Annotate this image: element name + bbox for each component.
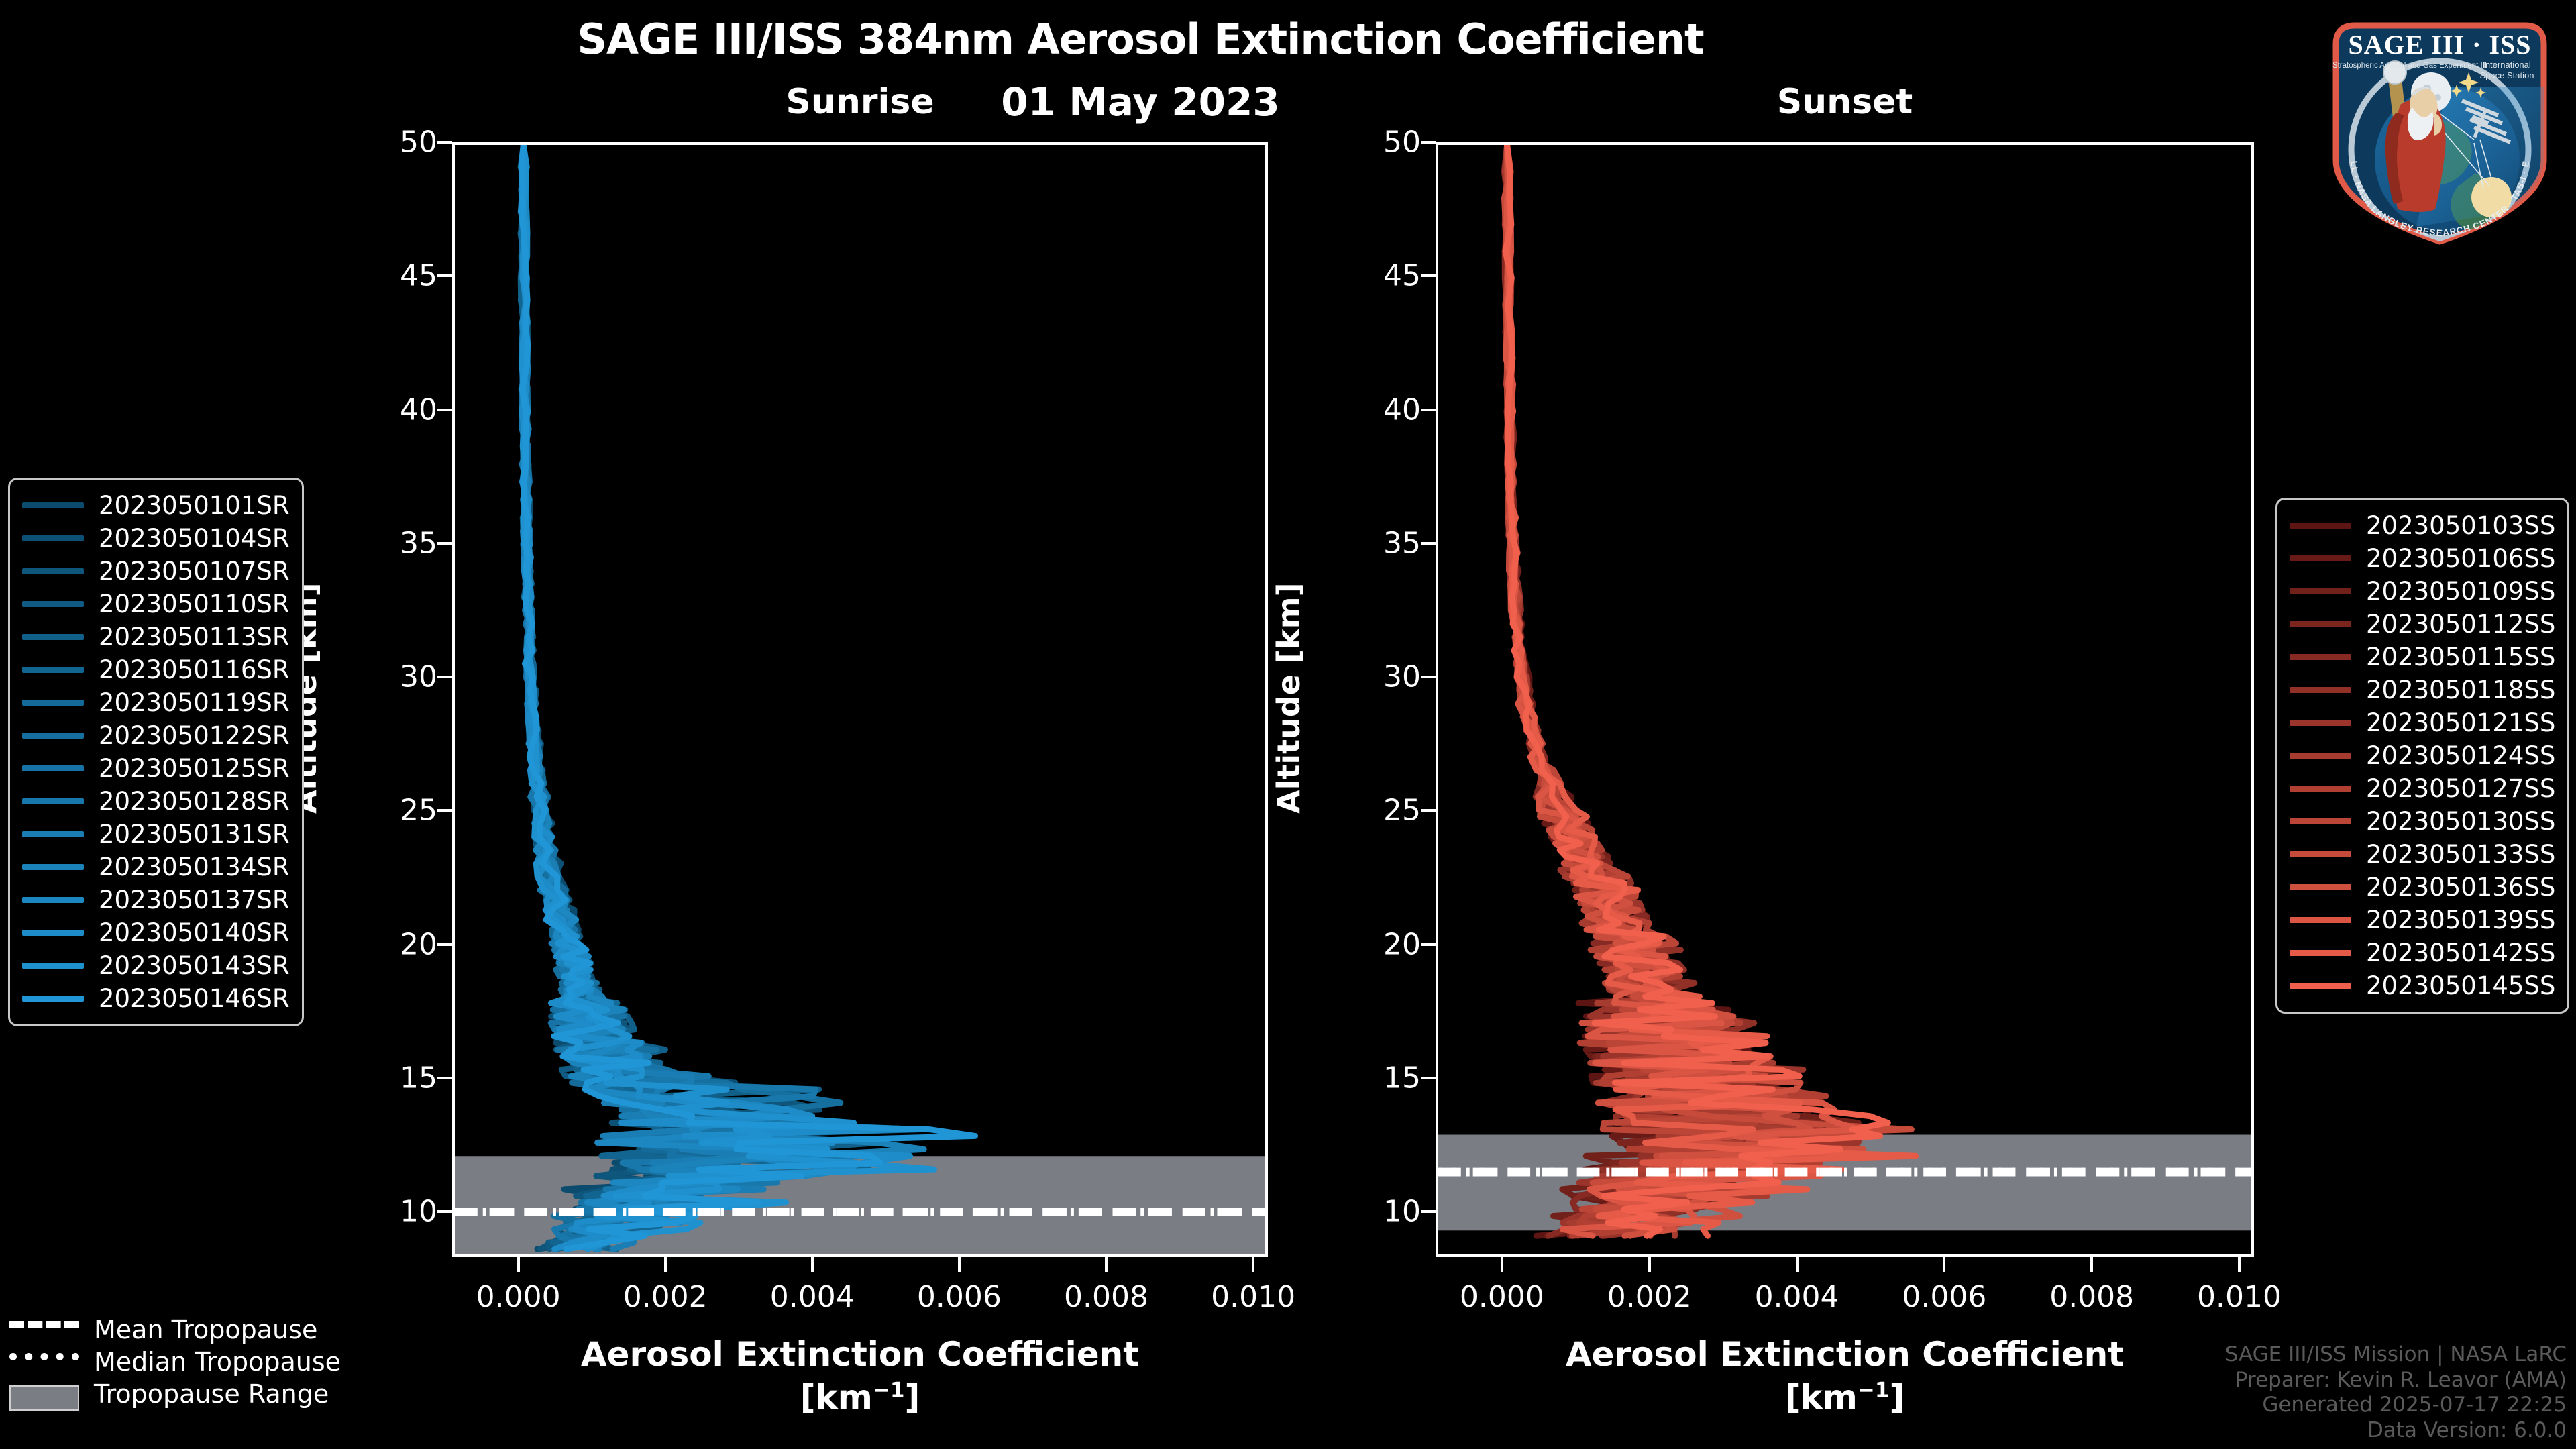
y-tick-mark (1421, 676, 1436, 678)
legend-item: 2023050107SR (22, 555, 290, 588)
legend-label: 2023050107SR (99, 557, 290, 586)
legend-item-median-tropopause: Median Tropopause (9, 1346, 341, 1378)
legend-color-swatch (22, 568, 84, 574)
legend-item: 2023050125SR (22, 752, 290, 785)
y-tick-label: 20 (1320, 927, 1421, 961)
legend-color-swatch (2290, 950, 2351, 956)
legend-label: 2023050109SS (2366, 577, 2555, 606)
x-tick-label: 0.002 (592, 1280, 739, 1314)
patch-title: SAGE III · ISS (2348, 30, 2531, 60)
legend-color-swatch (22, 667, 84, 673)
y-tick-mark (437, 676, 452, 678)
legend-item-tropopause-range: Tropopause Range (9, 1378, 341, 1410)
y-tick-label: 30 (337, 660, 437, 694)
legend-item: 2023050136SS (2290, 871, 2555, 904)
legend-color-swatch (2290, 917, 2351, 923)
legend-item: 2023050103SS (2290, 509, 2555, 542)
x-tick-label: 0.004 (739, 1280, 886, 1314)
legend-label: 2023050125SR (99, 754, 290, 783)
plot-panel-sunrise (452, 142, 1268, 1257)
y-tick-label: 15 (1320, 1061, 1421, 1095)
legend-color-swatch (2290, 555, 2351, 561)
x-tick-label: 0.002 (1576, 1280, 1723, 1314)
legend-label: 2023050134SR (99, 853, 290, 881)
credits-line-mission: SAGE III/ISS Mission | NASA LaRC (2225, 1342, 2567, 1368)
page-title: SAGE III/ISS 384nm Aerosol Extinction Co… (0, 15, 2281, 64)
legend-color-swatch (2290, 621, 2351, 627)
legend-label: 2023050127SS (2366, 774, 2555, 803)
legend-label: 2023050119SR (99, 688, 290, 717)
y-tick-label: 35 (1320, 526, 1421, 560)
legend-item: 2023050134SR (22, 851, 290, 883)
legend-color-swatch (2290, 753, 2351, 759)
x-tick-mark (2090, 1257, 2093, 1272)
legend-color-swatch (22, 996, 84, 1002)
y-tick-label: 30 (1320, 660, 1421, 694)
credits-line-generated: Generated 2025-07-17 22:25 (2225, 1393, 2567, 1418)
sunset-profile-plot (1438, 145, 2251, 1254)
x-tick-mark (517, 1257, 520, 1272)
y-tick-label: 40 (337, 392, 437, 427)
legend-label: 2023050130SS (2366, 807, 2555, 836)
y-tick-label: 25 (337, 794, 437, 828)
x-tick-mark (1501, 1257, 1503, 1272)
legend-label: 2023050136SS (2366, 873, 2555, 902)
x-axis-label: Aerosol Extinction Coefficient[km−1] (1436, 1335, 2254, 1417)
legend-label-mean-tropopause: Mean Tropopause (94, 1315, 317, 1344)
dotted-line-icon (9, 1353, 79, 1371)
y-tick-label: 50 (337, 125, 437, 160)
legend-item: 2023050118SS (2290, 674, 2555, 706)
y-tick-label: 15 (337, 1061, 437, 1095)
legend-item: 2023050115SS (2290, 641, 2555, 674)
legend-label: 2023050115SS (2366, 643, 2555, 672)
legend-label: 2023050122SR (99, 721, 290, 750)
legend-label: 2023050139SS (2366, 906, 2555, 934)
y-tick-mark (437, 1077, 452, 1079)
y-tick-mark (437, 1210, 452, 1213)
x-tick-label: 0.004 (1723, 1280, 1871, 1314)
credits-line-data-version: Data Version: 6.0.0 (2225, 1418, 2567, 1444)
x-tick-label: 0.010 (2165, 1280, 2313, 1314)
legend-color-swatch (22, 700, 84, 706)
legend-label: 2023050146SR (99, 984, 290, 1013)
y-tick-label: 50 (1320, 125, 1421, 160)
y-tick-mark (1421, 1077, 1436, 1079)
legend-label: 2023050143SR (99, 951, 290, 980)
legend-item: 2023050101SR (22, 489, 290, 522)
legend-tropopause: Mean Tropopause Median Tropopause Tropop… (9, 1313, 341, 1410)
sage-iii-iss-mission-patch-logo: BALL · NASA LANGLEY RESEARCH CENTER · TA… (2316, 5, 2564, 255)
legend-item: 2023050131SR (22, 818, 290, 851)
legend-item: 2023050106SS (2290, 542, 2555, 575)
legend-item-mean-tropopause: Mean Tropopause (9, 1313, 341, 1346)
legend-item: 2023050128SR (22, 785, 290, 818)
legend-label: 2023050118SS (2366, 676, 2555, 704)
y-tick-label: 45 (1320, 259, 1421, 293)
x-tick-mark (1105, 1257, 1108, 1272)
legend-label: 2023050124SS (2366, 741, 2555, 770)
legend-item: 2023050145SS (2290, 969, 2555, 1002)
legend-sunset: 2023050103SS2023050106SS2023050109SS2023… (2275, 498, 2569, 1014)
legend-color-swatch (22, 765, 84, 771)
legend-label: 2023050142SS (2366, 938, 2555, 967)
credits-block: SAGE III/ISS Mission | NASA LaRC Prepare… (2225, 1342, 2567, 1444)
legend-label: 2023050131SR (99, 820, 290, 849)
legend-item: 2023050130SS (2290, 805, 2555, 838)
legend-item: 2023050143SR (22, 949, 290, 982)
legend-label: 2023050137SR (99, 885, 290, 914)
y-tick-mark (437, 274, 452, 277)
dashed-line-icon (9, 1321, 79, 1338)
legend-item: 2023050140SR (22, 916, 290, 949)
legend-label: 2023050106SS (2366, 544, 2555, 573)
x-tick-mark (2238, 1257, 2241, 1272)
legend-item: 2023050116SR (22, 653, 290, 686)
y-tick-mark (1421, 141, 1436, 144)
y-tick-mark (437, 943, 452, 946)
legend-item: 2023050109SS (2290, 575, 2555, 608)
y-tick-label: 20 (337, 927, 437, 961)
legend-label-median-tropopause: Median Tropopause (94, 1347, 341, 1377)
plot-panel-sunset (1436, 142, 2254, 1257)
y-tick-mark (1421, 1210, 1436, 1213)
legend-color-swatch (22, 963, 84, 969)
legend-item: 2023050133SS (2290, 838, 2555, 871)
legend-item: 2023050110SR (22, 588, 290, 621)
legend-color-swatch (2290, 983, 2351, 989)
legend-color-swatch (22, 897, 84, 903)
x-tick-mark (958, 1257, 961, 1272)
sunrise-panel-label: Sunrise (452, 82, 1268, 122)
x-tick-label: 0.008 (2018, 1280, 2165, 1314)
legend-item: 2023050137SR (22, 883, 290, 916)
legend-label: 2023050101SR (99, 491, 290, 520)
x-tick-mark (664, 1257, 667, 1272)
y-tick-mark (437, 141, 452, 144)
legend-color-swatch (22, 634, 84, 640)
credits-line-preparer: Preparer: Kevin R. Leavor (AMA) (2225, 1368, 2567, 1393)
legend-label: 2023050133SS (2366, 840, 2555, 869)
y-tick-mark (1421, 274, 1436, 277)
legend-item: 2023050121SS (2290, 706, 2555, 739)
x-axis-label: Aerosol Extinction Coefficient[km−1] (452, 1335, 1268, 1417)
legend-color-swatch (2290, 654, 2351, 660)
legend-label: 2023050140SR (99, 918, 290, 947)
patch-subtitle-left: Stratospheric Aerosol and Gas Experiment… (2332, 62, 2487, 70)
y-tick-mark (1421, 943, 1436, 946)
sunset-panel-label: Sunset (1436, 82, 2254, 122)
legend-item: 2023050142SS (2290, 936, 2555, 969)
profile-line (521, 145, 975, 1249)
patch-subtitle-right-1: International (2483, 60, 2531, 70)
legend-label: 2023050110SR (99, 590, 290, 619)
y-tick-label: 10 (1320, 1195, 1421, 1229)
y-tick-mark (1421, 409, 1436, 411)
x-tick-label: 0.010 (1179, 1280, 1327, 1314)
legend-color-swatch (22, 502, 84, 508)
x-axis-label-text: Aerosol Extinction Coefficient (1566, 1335, 2124, 1374)
legend-label-tropopause-range: Tropopause Range (94, 1379, 329, 1409)
x-axis-label-text: Aerosol Extinction Coefficient (581, 1335, 1139, 1374)
legend-color-swatch (22, 798, 84, 804)
legend-color-swatch (22, 864, 84, 870)
y-tick-mark (437, 409, 452, 411)
sunrise-profile-plot (455, 145, 1265, 1254)
legend-sunrise: 2023050101SR2023050104SR2023050107SR2023… (8, 478, 304, 1026)
y-tick-label: 10 (337, 1195, 437, 1229)
legend-color-swatch (22, 535, 84, 541)
legend-color-swatch (22, 601, 84, 607)
y-tick-mark (437, 542, 452, 545)
legend-label: 2023050103SS (2366, 511, 2555, 540)
x-tick-label: 0.006 (885, 1280, 1033, 1314)
x-tick-label: 0.000 (445, 1280, 592, 1314)
legend-item: 2023050104SR (22, 522, 290, 555)
x-tick-label: 0.006 (1870, 1280, 2018, 1314)
x-axis-unit: [km−1] (452, 1378, 1268, 1417)
y-tick-label: 40 (1320, 392, 1421, 427)
legend-item: 2023050113SR (22, 621, 290, 653)
legend-item: 2023050112SS (2290, 608, 2555, 641)
y-tick-mark (437, 809, 452, 812)
x-tick-mark (1648, 1257, 1651, 1272)
x-tick-label: 0.000 (1428, 1280, 1576, 1314)
x-tick-mark (1252, 1257, 1254, 1272)
legend-item: 2023050119SR (22, 686, 290, 719)
legend-item: 2023050146SR (22, 982, 290, 1015)
legend-color-swatch (2290, 588, 2351, 594)
x-tick-mark (811, 1257, 814, 1272)
y-tick-mark (1421, 809, 1436, 812)
legend-label: 2023050104SR (99, 524, 290, 553)
legend-item: 2023050139SS (2290, 904, 2555, 936)
x-tick-mark (1796, 1257, 1799, 1272)
legend-label: 2023050113SR (99, 623, 290, 651)
legend-item: 2023050127SS (2290, 772, 2555, 805)
x-tick-label: 0.008 (1032, 1280, 1180, 1314)
profile-line (1506, 145, 1870, 1236)
legend-color-swatch (2290, 687, 2351, 693)
y-tick-mark (1421, 542, 1436, 545)
patch-subtitle-right-2: Space Station (2480, 70, 2534, 80)
legend-label: 2023050128SR (99, 787, 290, 816)
legend-color-swatch (22, 831, 84, 837)
legend-color-swatch (22, 930, 84, 936)
x-tick-mark (1943, 1257, 1945, 1272)
legend-item: 2023050124SS (2290, 739, 2555, 772)
legend-color-swatch (2290, 720, 2351, 726)
legend-label: 2023050121SS (2366, 708, 2555, 737)
y-tick-label: 35 (337, 526, 437, 560)
legend-label: 2023050112SS (2366, 610, 2555, 639)
y-tick-label: 45 (337, 259, 437, 293)
legend-label: 2023050116SR (99, 655, 290, 684)
y-tick-label: 25 (1320, 794, 1421, 828)
legend-color-swatch (2290, 523, 2351, 529)
legend-color-swatch (22, 733, 84, 739)
legend-color-swatch (2290, 818, 2351, 824)
gray-band-icon (9, 1385, 79, 1403)
x-axis-unit: [km−1] (1436, 1378, 2254, 1417)
legend-color-swatch (2290, 786, 2351, 792)
legend-item: 2023050122SR (22, 719, 290, 752)
legend-color-swatch (2290, 884, 2351, 890)
y-axis-label: Altitude [km] (1271, 582, 1307, 814)
legend-label: 2023050145SS (2366, 971, 2555, 1000)
legend-color-swatch (2290, 851, 2351, 857)
